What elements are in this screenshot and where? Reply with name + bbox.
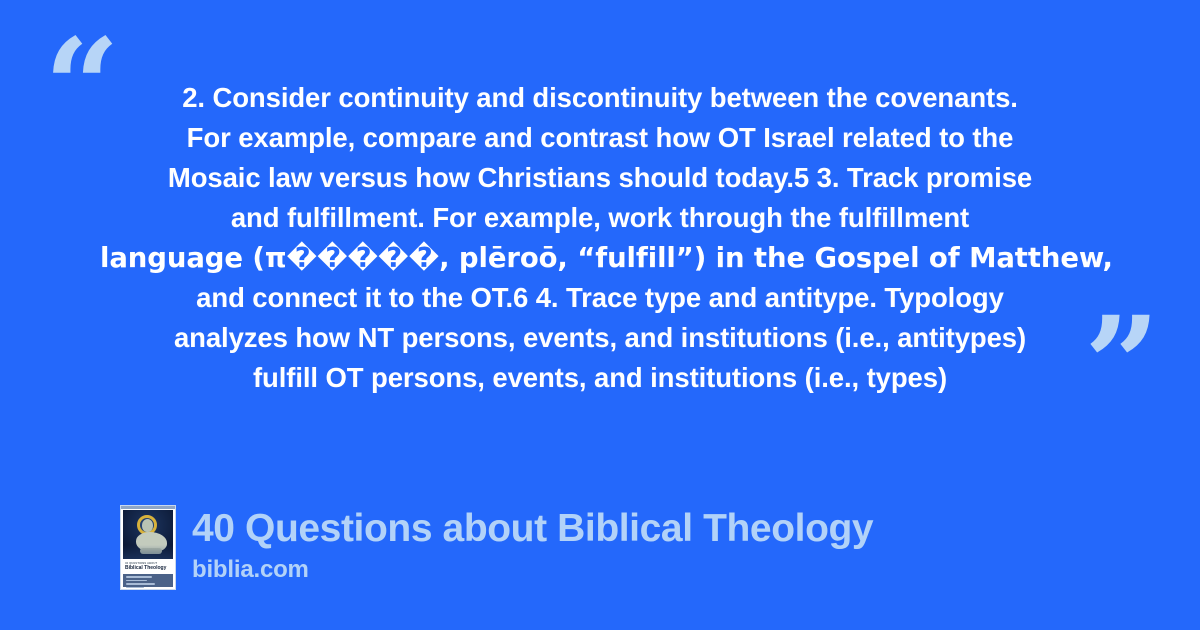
book-cover-title-band: 40 QUESTIONS ABOUT Biblical Theology bbox=[123, 561, 173, 574]
lamb-head-shape bbox=[142, 519, 153, 532]
book-title: 40 Questions about Biblical Theology bbox=[192, 507, 873, 551]
quote-region: “ 2. Consider continuity and discontinui… bbox=[0, 0, 1200, 440]
quote-line: 2. Consider continuity and discontinuity… bbox=[100, 78, 1100, 118]
book-cover-author-band bbox=[123, 574, 173, 587]
footer: 40 QUESTIONS ABOUT Biblical Theology 40 … bbox=[120, 505, 873, 590]
book-cover-text-line bbox=[126, 576, 152, 578]
book-cover-title: Biblical Theology bbox=[125, 565, 171, 571]
book-cover-text-line bbox=[126, 580, 147, 582]
quote-line: and fulfillment. For example, work throu… bbox=[100, 198, 1100, 238]
site-name: biblia.com bbox=[192, 555, 873, 585]
quote-line: Mosaic law versus how Christians should … bbox=[100, 158, 1100, 198]
book-cover-artwork-lamb bbox=[123, 510, 173, 559]
quote-card: “ 2. Consider continuity and discontinui… bbox=[0, 0, 1200, 630]
quote-line: analyzes how NT persons, events, and ins… bbox=[100, 318, 1100, 358]
book-cover-thumbnail: 40 QUESTIONS ABOUT Biblical Theology bbox=[120, 505, 176, 590]
book-cover-text-line bbox=[126, 583, 155, 585]
quote-line: For example, compare and contrast how OT… bbox=[100, 118, 1100, 158]
book-cover-top-rule bbox=[121, 506, 175, 509]
close-quote-icon: ” bbox=[1084, 300, 1160, 432]
footer-text: 40 Questions about Biblical Theology bib… bbox=[192, 505, 873, 585]
quote-line: fulfill OT persons, events, and institut… bbox=[100, 358, 1100, 398]
quote-line: language (π�����, plēroō, “fulfill”) in … bbox=[100, 238, 1100, 278]
quote-line: and connect it to the OT.6 4. Trace type… bbox=[100, 278, 1100, 318]
artwork-glow bbox=[123, 545, 173, 559]
quote-text: 2. Consider continuity and discontinuity… bbox=[100, 78, 1100, 398]
book-cover-text-line bbox=[126, 587, 144, 589]
